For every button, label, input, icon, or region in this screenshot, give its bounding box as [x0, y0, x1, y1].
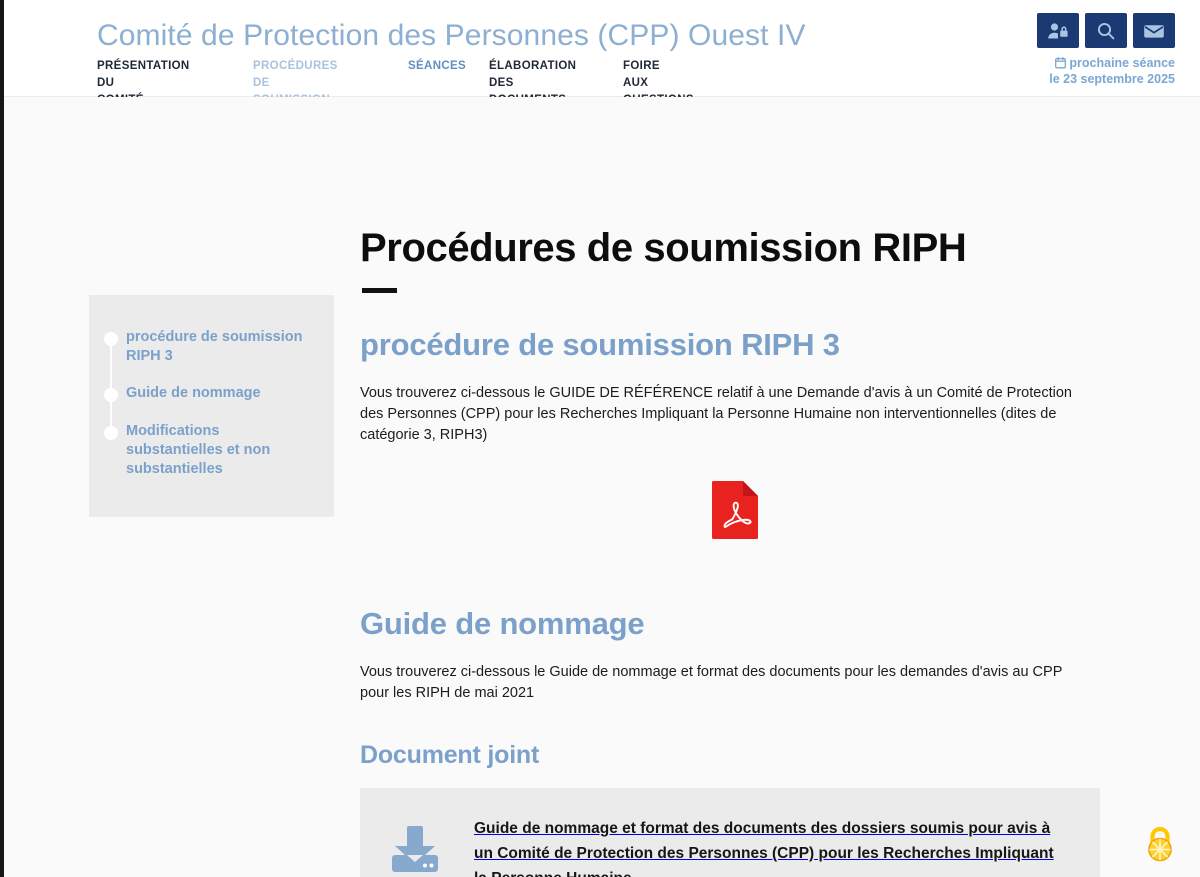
attachment-card[interactable]: Guide de nommage et format des documents…: [360, 788, 1100, 877]
sidebar-item-label[interactable]: procédure de soumission RIPH 3: [126, 328, 316, 366]
section-anchor-panel: procédure de soumission RIPH 3 Guide de …: [89, 295, 334, 517]
anchor-list: procédure de soumission RIPH 3 Guide de …: [89, 295, 334, 479]
attachment-info: Guide de nommage et format des documents…: [474, 816, 1070, 877]
section-paragraph: Vous trouverez ci-dessous le GUIDE DE RÉ…: [360, 383, 1090, 446]
sidebar-item-guide-nommage[interactable]: Guide de nommage: [89, 384, 334, 404]
bullet-dot-icon: [104, 388, 118, 402]
section-spacer: [360, 540, 1110, 604]
user-lock-icon: [1047, 22, 1069, 40]
pdf-file-link[interactable]: [711, 480, 759, 540]
site-header: Comité de Protection des Personnes (CPP)…: [4, 0, 1200, 97]
contact-mail-button[interactable]: [1133, 13, 1175, 48]
section-procedure-riph3: procédure de soumission RIPH 3 Vous trou…: [360, 325, 1110, 540]
bullet-dot-icon: [104, 332, 118, 346]
mail-icon: [1143, 23, 1165, 39]
download-icon: [388, 816, 450, 876]
next-session-label: prochaine séance: [1069, 55, 1175, 71]
subsection-spacer: [360, 704, 1110, 738]
search-button[interactable]: [1085, 13, 1127, 48]
section-guide-nommage: Guide de nommage Vous trouverez ci-desso…: [360, 604, 1110, 877]
section-heading: Guide de nommage: [360, 604, 1110, 644]
page-title: Procédures de soumission RIPH: [360, 224, 966, 272]
pdf-file-icon: [711, 527, 759, 544]
calendar-icon: [1055, 57, 1066, 69]
title-underline-rule: [362, 288, 397, 293]
padlock-cookie-icon: [1138, 852, 1182, 869]
bullet-dot-icon: [104, 426, 118, 440]
private-area-button[interactable]: [1037, 13, 1079, 48]
sidebar-item-label[interactable]: Modifications substantielles et non subs…: [126, 422, 316, 479]
content-column: procédure de soumission RIPH 3 Vous trou…: [360, 325, 1110, 877]
section-heading: procédure de soumission RIPH 3: [360, 325, 1110, 365]
header-tool-buttons: [1037, 13, 1175, 48]
sidebar-item-modifications[interactable]: Modifications substantielles et non subs…: [89, 422, 334, 479]
pdf-figure: [360, 480, 1110, 540]
sidebar-item-procedure-riph3[interactable]: procédure de soumission RIPH 3: [89, 328, 334, 366]
next-session-date: le 23 septembre 2025: [1037, 71, 1175, 87]
attachment-title: Guide de nommage et format des documents…: [474, 816, 1070, 877]
next-session-info: prochaine séance le 23 septembre 2025: [1037, 55, 1175, 87]
search-icon: [1096, 21, 1116, 41]
header-tools: prochaine séance le 23 septembre 2025: [1037, 13, 1175, 87]
section-paragraph: Vous trouverez ci-dessous le Guide de no…: [360, 662, 1090, 704]
site-title: Comité de Protection des Personnes (CPP)…: [97, 18, 806, 54]
sidebar-item-label[interactable]: Guide de nommage: [126, 384, 316, 403]
cookie-consent-button[interactable]: [1138, 821, 1182, 865]
page-body: Procédures de soumission RIPH procédure …: [4, 97, 1200, 877]
attachment-subheading: Document joint: [360, 738, 1110, 772]
